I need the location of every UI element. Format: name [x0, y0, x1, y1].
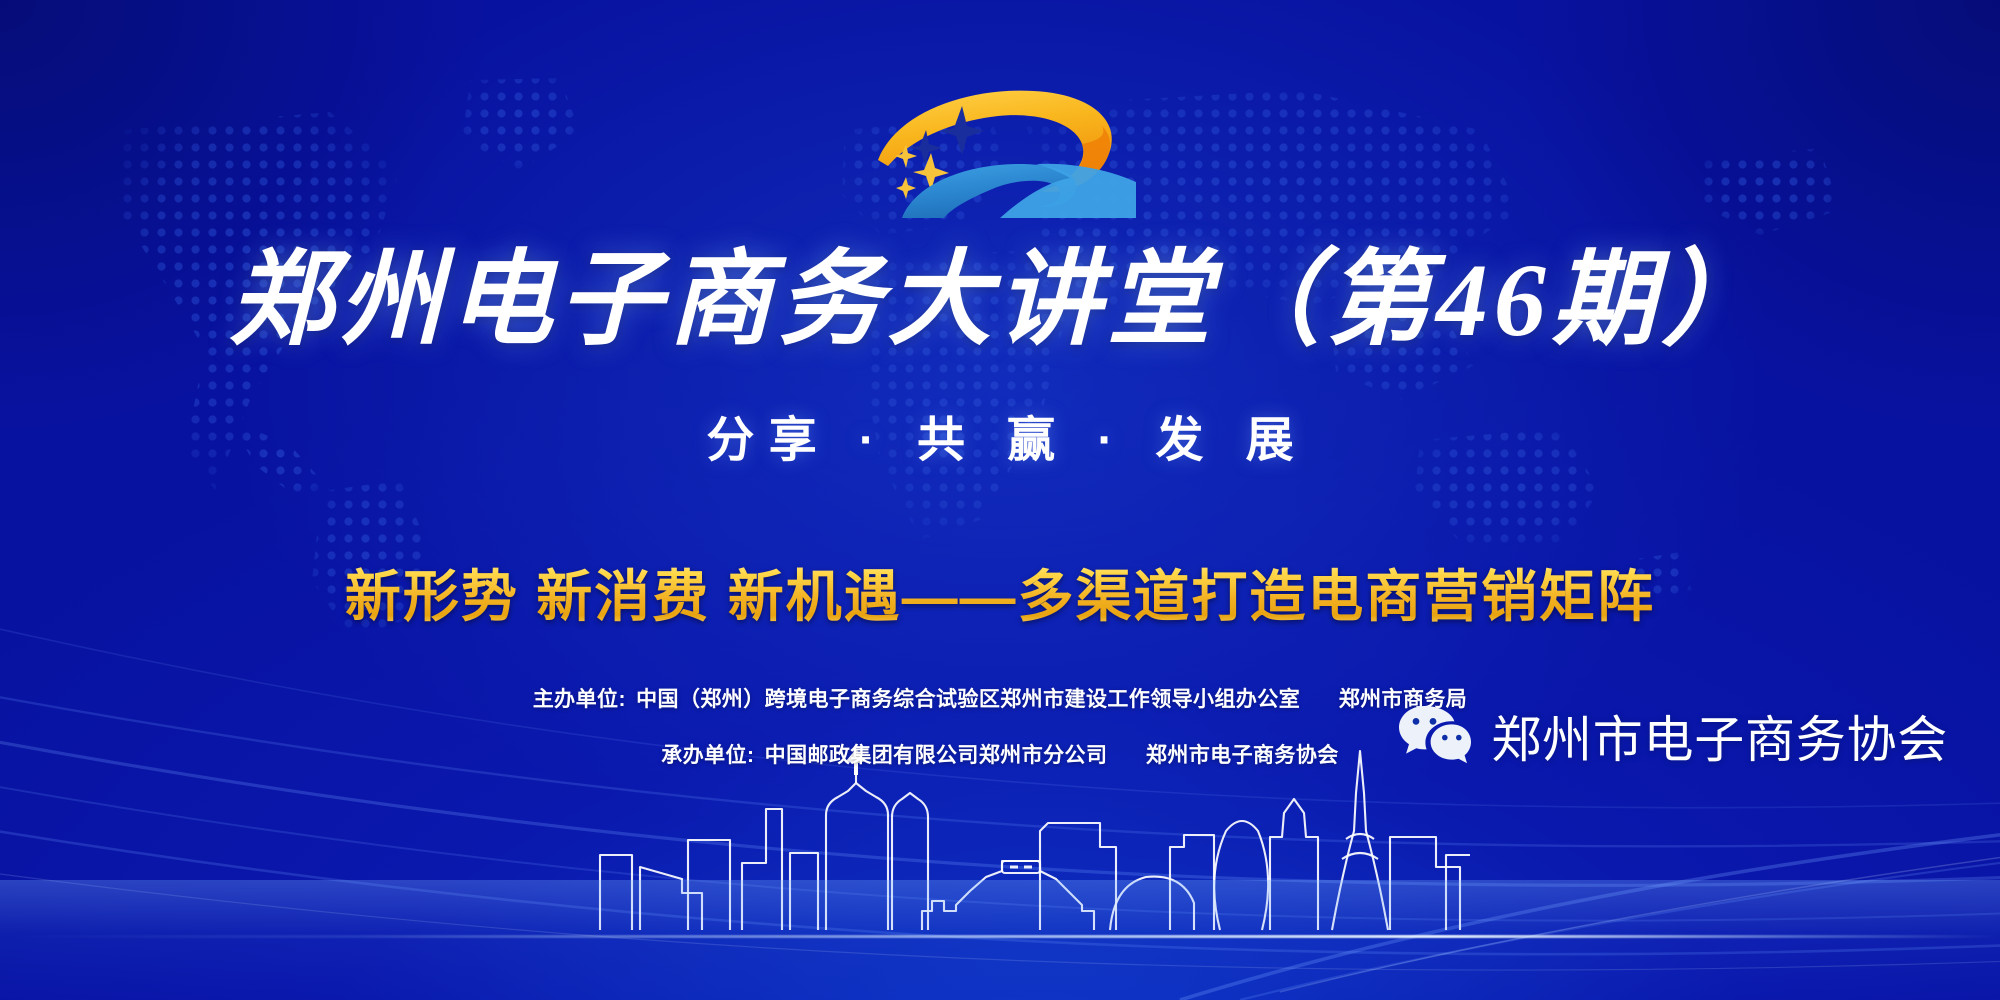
poster-content: 郑州电子商务大讲堂（第46期） 分享 · 共 赢 · 发 展 新形势 新消费 新… [0, 0, 2000, 1000]
wechat-eye-1 [1413, 718, 1420, 725]
wechat-eye-2 [1430, 718, 1437, 725]
topic-headline: 新形势 新消费 新机遇——多渠道打造电商营销矩阵 [0, 552, 2000, 633]
wechat-icon [1397, 704, 1471, 768]
host-value: 中国（郑州）跨境电子商务综合试验区郑州市建设工作领导小组办公室 [636, 688, 1300, 711]
wechat-account-badge: 郑州市电子商务协会 [1397, 700, 1948, 772]
co-host-label: 承办单位: [661, 744, 754, 767]
event-poster: 郑州电子商务大讲堂（第46期） 分享 · 共 赢 · 发 展 新形势 新消费 新… [0, 0, 2000, 1000]
host-label: 主办单位: [533, 688, 626, 711]
subtitle: 分享 · 共 赢 · 发 展 [0, 400, 2000, 470]
zhengzhou-ecommerce-logo [850, 78, 1150, 218]
co-host-value-2: 郑州市电子商务协会 [1146, 744, 1339, 767]
page-title: 郑州电子商务大讲堂（第46期） [0, 246, 2000, 355]
wechat-account-name: 郑州市电子商务协会 [1491, 700, 1948, 772]
logo-mark [850, 78, 1150, 218]
wechat-bubble-small [1431, 724, 1471, 763]
wechat-eye-3 [1442, 735, 1448, 741]
wechat-eye-4 [1456, 735, 1462, 741]
co-host-value: 中国邮政集团有限公司郑州市分公司 [765, 744, 1108, 767]
